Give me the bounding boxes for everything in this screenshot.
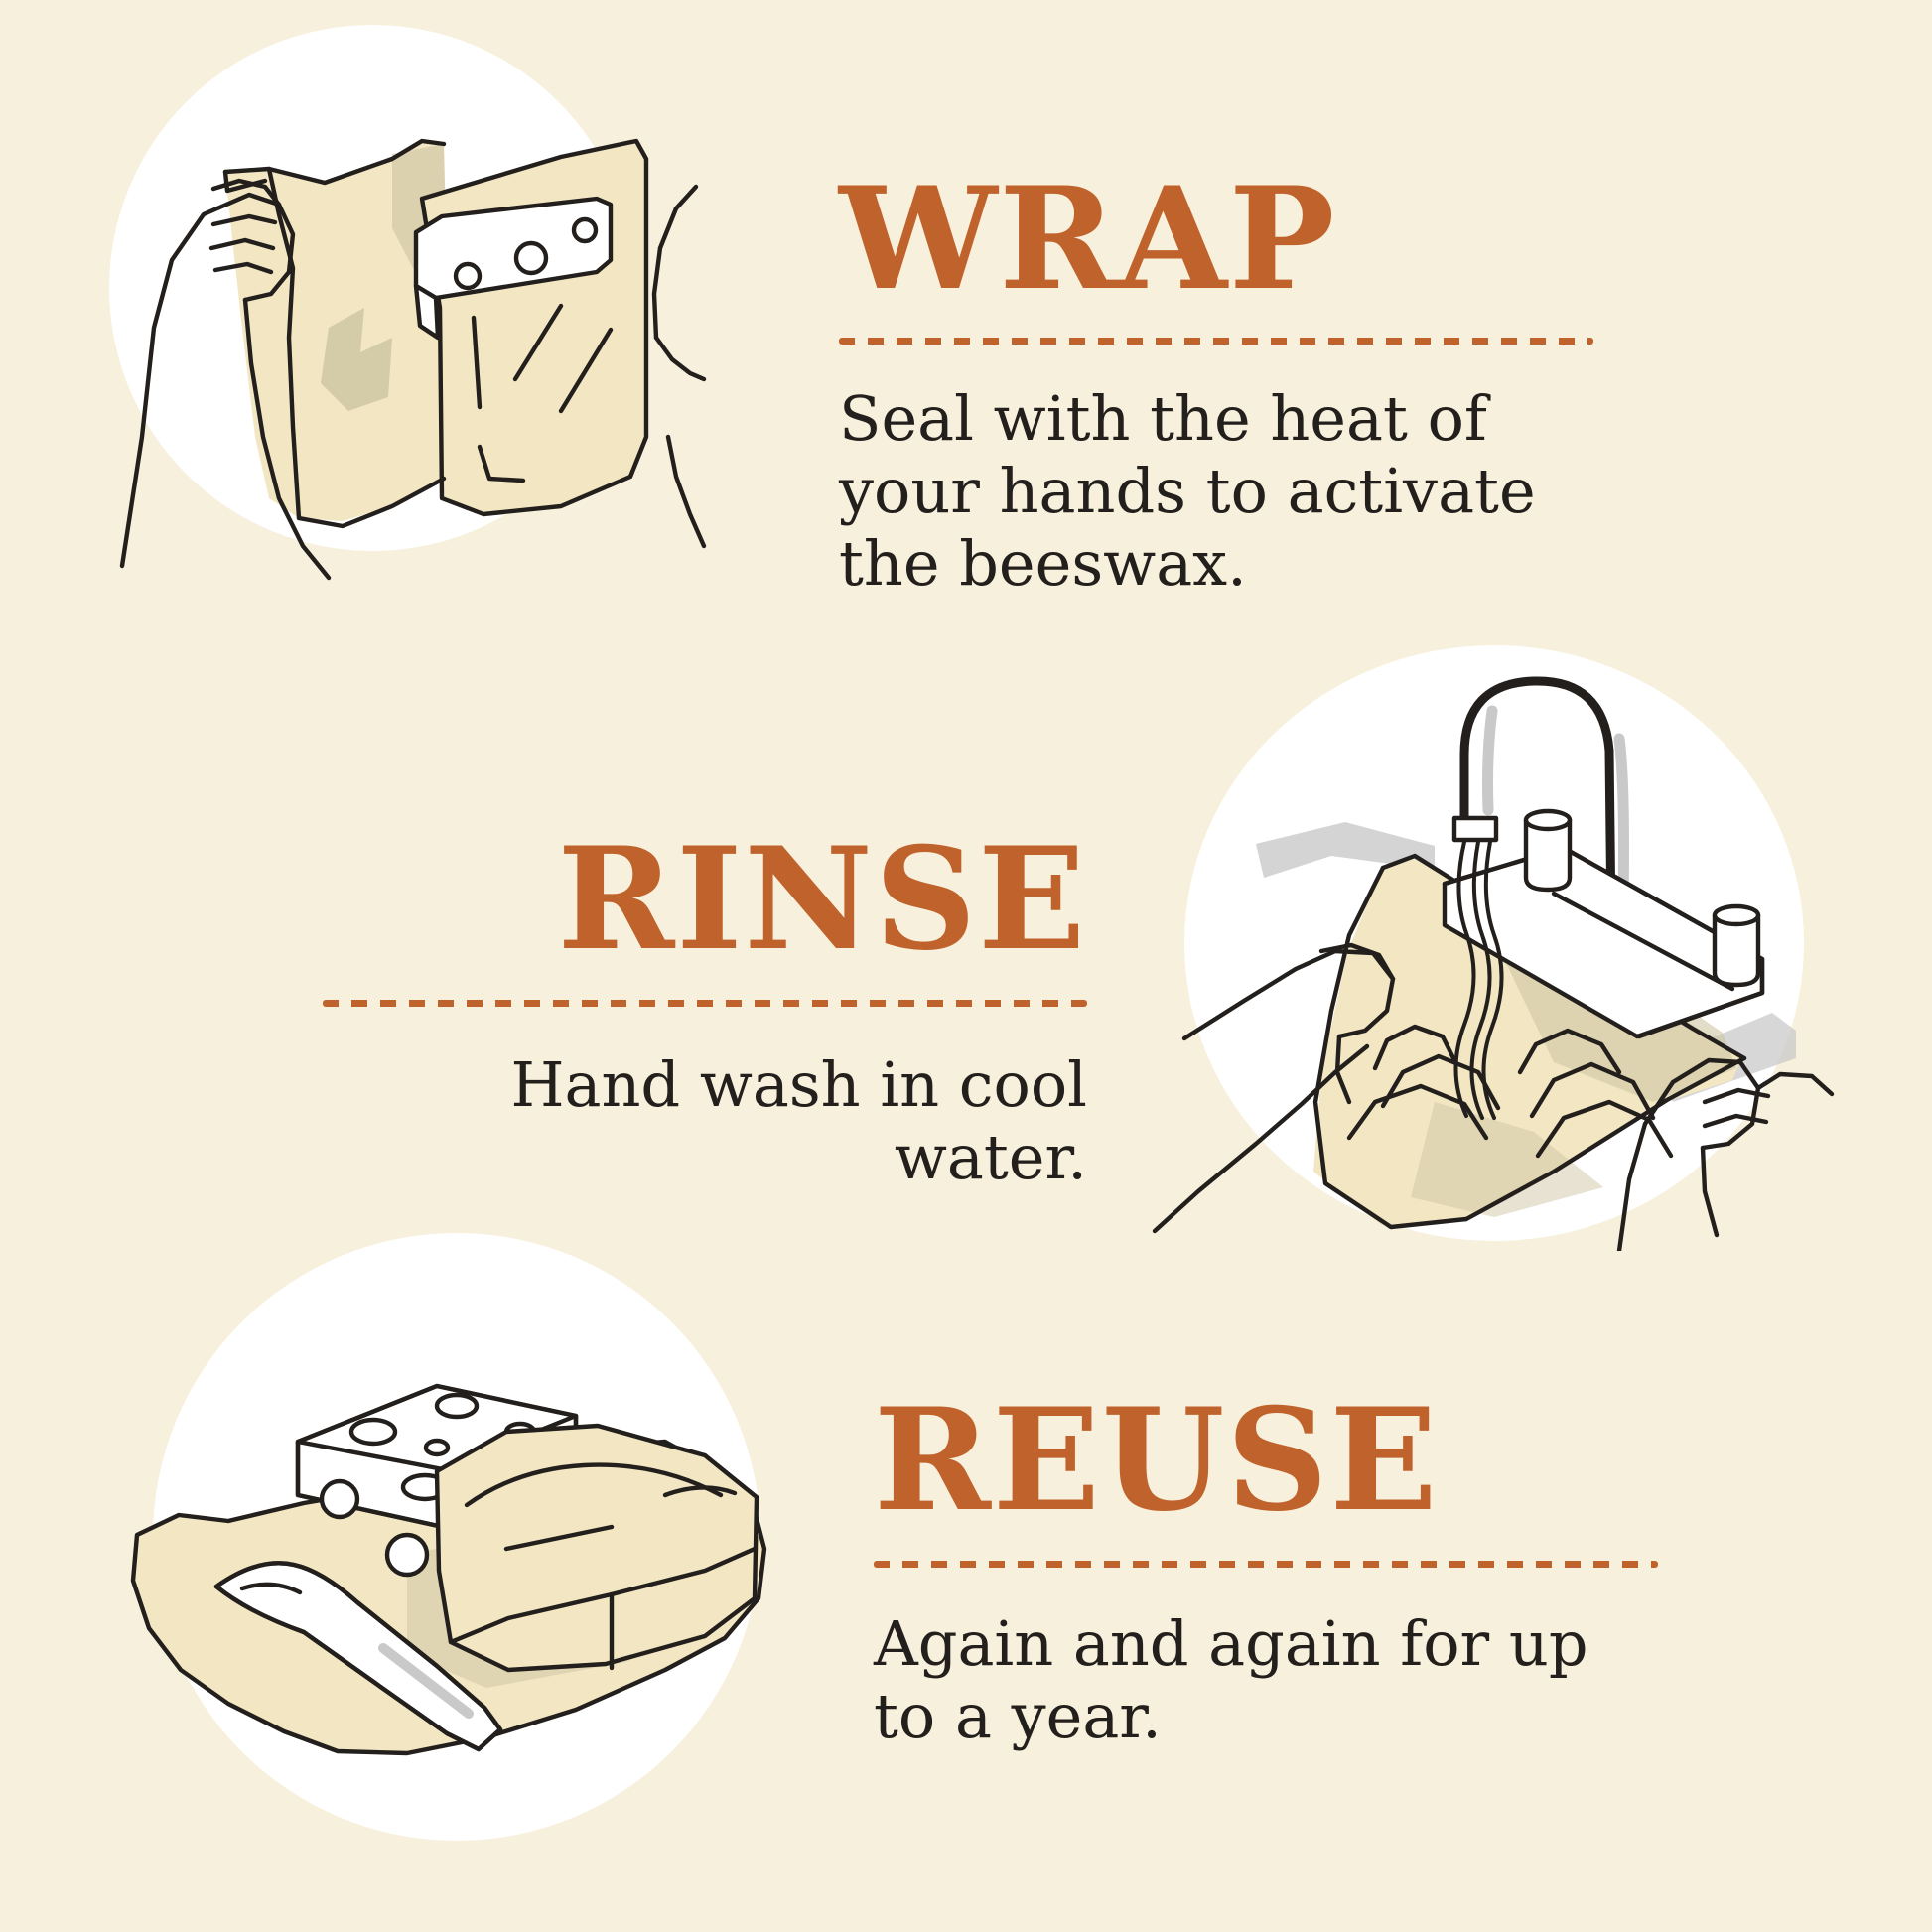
step-body-reuse: Again and again for up to a year. [874, 1607, 1658, 1752]
divider-rinse [323, 1000, 1087, 1007]
divider-wrap [839, 338, 1593, 345]
rinse-text-block: RINSE Hand wash in cool water. [323, 829, 1087, 1193]
step-body-rinse: Hand wash in cool water. [323, 1048, 1087, 1193]
cheese-block-on-wrap-with-knife-illustration [109, 1221, 804, 1857]
step-heading-rinse: RINSE [323, 829, 1087, 970]
step-body-wrap: Seal with the heat of your hands to acti… [839, 382, 1623, 600]
divider-reuse [874, 1561, 1658, 1568]
step-wrap: WRAP Seal with the heat of your hands to… [0, 0, 1932, 635]
step-reuse: REUSE Again and again for up to a year. [0, 1241, 1932, 1932]
step-heading-wrap: WRAP [839, 169, 1623, 310]
wrap-text-block: WRAP Seal with the heat of your hands to… [839, 169, 1623, 600]
reuse-text-block: REUSE Again and again for up to a year. [874, 1390, 1658, 1752]
step-rinse: RINSE Hand wash in cool water. [0, 635, 1932, 1251]
hands-rinsing-wrap-under-faucet-illustration [1137, 635, 1852, 1251]
step-heading-reuse: REUSE [874, 1390, 1658, 1531]
hands-wrapping-cheese-illustration [94, 10, 710, 606]
infographic-canvas: WRAP Seal with the heat of your hands to… [0, 0, 1932, 1932]
